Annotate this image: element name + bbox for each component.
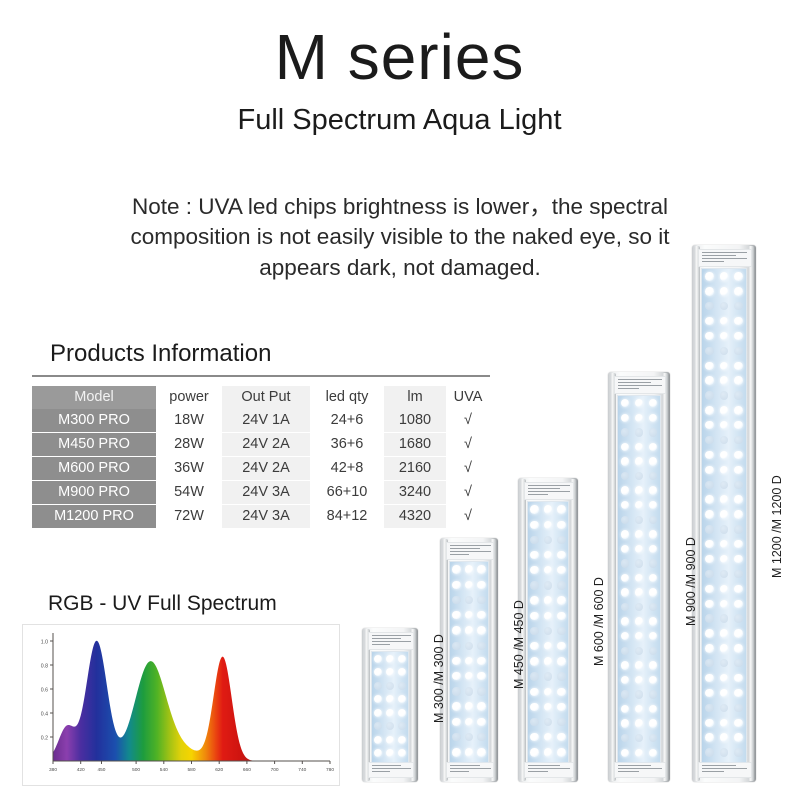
led-chip — [621, 676, 629, 684]
fixture-spec-label-bottom — [446, 762, 494, 778]
led-chip — [465, 581, 473, 589]
led-chip — [705, 466, 713, 474]
led-chip — [734, 466, 742, 474]
led-chip — [705, 689, 713, 697]
led-chip — [398, 655, 406, 663]
led-chip — [621, 719, 629, 727]
uva-led-chip — [530, 718, 538, 726]
led-chip — [557, 657, 565, 665]
led-chip — [544, 657, 552, 665]
led-chip — [734, 362, 742, 370]
led-chip — [621, 574, 629, 582]
led-chip — [720, 600, 728, 608]
led-chip — [544, 733, 552, 741]
fixture-spec-label-bottom — [614, 762, 666, 778]
led-chip — [557, 703, 565, 711]
cell-lm: 1680 — [384, 433, 446, 457]
led-chip — [621, 617, 629, 625]
cell-model: M600 PRO — [32, 457, 156, 481]
led-chip — [452, 581, 460, 589]
uva-led-chip — [649, 472, 657, 480]
cell-uva: √ — [446, 481, 490, 505]
fixture-side-rail — [490, 539, 496, 781]
uva-led-chip — [720, 436, 728, 444]
led-chip — [705, 495, 713, 503]
uva-led-chip — [530, 581, 538, 589]
led-chip — [477, 672, 485, 680]
led-chip — [452, 702, 460, 710]
led-chip — [557, 596, 565, 604]
fixture-model-label: M 450 /M 450 D — [512, 600, 526, 689]
table-row: M300 PRO 18W 24V 1A 24+6 1080 √ — [32, 409, 490, 433]
fixture-side-rail — [610, 373, 616, 781]
led-chip — [734, 406, 742, 414]
led-chip — [734, 287, 742, 295]
led-chip — [398, 668, 406, 676]
led-chip — [720, 644, 728, 652]
table-row: M900 PRO 54W 24V 3A 66+10 3240 √ — [32, 481, 490, 505]
led-chip — [465, 718, 473, 726]
cell-uva: √ — [446, 505, 490, 529]
uva-led-chip — [720, 525, 728, 533]
led-chip — [557, 688, 565, 696]
uva-led-chip — [720, 481, 728, 489]
led-chip — [720, 674, 728, 682]
led-chip — [374, 668, 382, 676]
fixture-model-label: M 600 /M 600 D — [592, 578, 606, 667]
cell-uva: √ — [446, 409, 490, 433]
uva-led-chip — [635, 516, 643, 524]
led-fixture — [362, 628, 418, 782]
led-chip — [734, 719, 742, 727]
cell-output: 24V 3A — [222, 481, 310, 505]
led-chip — [635, 719, 643, 727]
uva-led-chip — [398, 722, 406, 730]
uva-led-chip — [734, 614, 742, 622]
led-chip — [557, 748, 565, 756]
uva-led-chip — [465, 733, 473, 741]
led-chip — [465, 626, 473, 634]
column-header-output: Out Put — [222, 386, 310, 409]
led-chip — [465, 611, 473, 619]
led-chip — [398, 695, 406, 703]
uva-led-chip — [635, 559, 643, 567]
uva-led-chip — [621, 559, 629, 567]
uva-led-chip — [649, 603, 657, 611]
uva-led-chip — [705, 391, 713, 399]
led-panel — [527, 501, 569, 763]
led-chip — [649, 545, 657, 553]
led-chip — [649, 632, 657, 640]
led-chip — [734, 540, 742, 548]
uva-led-chip — [705, 614, 713, 622]
led-chip — [705, 733, 713, 741]
led-chip — [649, 676, 657, 684]
uva-led-chip — [544, 672, 552, 680]
uva-led-chip — [720, 748, 728, 756]
uva-led-chip — [720, 704, 728, 712]
led-chip — [557, 642, 565, 650]
led-chip — [530, 566, 538, 574]
uva-led-chip — [734, 525, 742, 533]
led-chip — [705, 376, 713, 384]
led-chip — [544, 596, 552, 604]
cell-led-qty: 24+6 — [310, 409, 384, 433]
led-chip — [635, 676, 643, 684]
led-chip — [530, 733, 538, 741]
fixture-spec-label-bottom — [368, 762, 415, 778]
uva-led-chip — [635, 690, 643, 698]
uva-led-chip — [557, 581, 565, 589]
led-chip — [705, 272, 713, 280]
table-body: M300 PRO 18W 24V 1A 24+6 1080 √ M450 PRO… — [32, 409, 490, 528]
page-subtitle: Full Spectrum Aqua Light — [0, 104, 799, 137]
cell-uva: √ — [446, 433, 490, 457]
led-chip — [635, 457, 643, 465]
led-chip — [452, 611, 460, 619]
cell-output: 24V 2A — [222, 433, 310, 457]
uva-led-chip — [705, 302, 713, 310]
led-chip — [544, 612, 552, 620]
column-header-uva: UVA — [446, 386, 490, 409]
svg-text:580: 580 — [187, 767, 195, 773]
led-chip — [477, 565, 485, 573]
section-divider — [32, 375, 490, 377]
uva-led-chip — [374, 682, 382, 690]
table-row: M450 PRO 28W 24V 2A 36+6 1680 √ — [32, 433, 490, 457]
uva-led-chip — [530, 536, 538, 544]
cell-model: M450 PRO — [32, 433, 156, 457]
led-chip — [635, 632, 643, 640]
uva-led-chip — [557, 718, 565, 726]
led-chip — [557, 566, 565, 574]
led-chip — [720, 376, 728, 384]
led-chip — [635, 617, 643, 625]
uva-led-chip — [705, 436, 713, 444]
led-chip — [557, 733, 565, 741]
led-chip — [477, 657, 485, 665]
led-chip — [635, 545, 643, 553]
led-chip — [705, 644, 713, 652]
svg-text:1.0: 1.0 — [41, 640, 48, 646]
led-chip — [705, 600, 713, 608]
uva-led-chip — [452, 642, 460, 650]
led-chip — [621, 486, 629, 494]
led-chip — [705, 555, 713, 563]
led-chip — [557, 505, 565, 513]
uva-led-chip — [530, 672, 538, 680]
led-chip — [734, 317, 742, 325]
led-chip — [635, 486, 643, 494]
led-chip — [705, 510, 713, 518]
uva-led-chip — [374, 722, 382, 730]
uva-led-chip — [557, 672, 565, 680]
led-chip — [635, 574, 643, 582]
uva-led-chip — [635, 603, 643, 611]
led-chip — [734, 600, 742, 608]
led-chip — [734, 495, 742, 503]
cell-power: 28W — [156, 433, 222, 457]
led-chip — [398, 709, 406, 717]
uva-led-chip — [557, 627, 565, 635]
led-chip — [705, 317, 713, 325]
led-chip — [530, 657, 538, 665]
led-chip — [734, 629, 742, 637]
led-chip — [398, 736, 406, 744]
led-chip — [720, 466, 728, 474]
svg-text:740: 740 — [298, 767, 306, 773]
fixture-side-rail — [748, 246, 754, 781]
led-chip — [530, 612, 538, 620]
fixture-model-label: M 900 /M 900 D — [684, 537, 698, 626]
led-chip — [398, 749, 406, 757]
uva-led-chip — [635, 734, 643, 742]
led-chip — [386, 695, 394, 703]
uva-led-chip — [544, 627, 552, 635]
led-chip — [705, 406, 713, 414]
cell-led-qty: 36+6 — [310, 433, 384, 457]
led-chip — [635, 414, 643, 422]
fixture-model-label: M 300 /M 300 D — [432, 635, 446, 724]
fixture-side-rail — [410, 629, 416, 781]
led-chip — [720, 540, 728, 548]
led-chip — [705, 585, 713, 593]
led-chip — [386, 749, 394, 757]
fixture-side-rail — [570, 479, 576, 781]
led-chip — [544, 748, 552, 756]
led-chip — [465, 657, 473, 665]
led-chip — [635, 530, 643, 538]
spectrum-chart-title: RGB - UV Full Spectrum — [48, 592, 277, 616]
led-chip — [734, 555, 742, 563]
led-chip — [720, 629, 728, 637]
cell-output: 24V 3A — [222, 505, 310, 529]
uva-led-chip — [720, 614, 728, 622]
cell-led-qty: 66+10 — [310, 481, 384, 505]
fixture-model-label: M 1200 /M 1200 D — [770, 475, 784, 578]
svg-text:420: 420 — [77, 767, 85, 773]
fixture-spec-label-bottom — [698, 762, 751, 778]
led-chip — [621, 530, 629, 538]
led-chip — [649, 574, 657, 582]
uva-led-chip — [705, 748, 713, 756]
led-chip — [649, 719, 657, 727]
uva-led-chip — [734, 481, 742, 489]
cell-power: 36W — [156, 457, 222, 481]
page-title: M series — [0, 24, 799, 91]
uva-led-chip — [477, 596, 485, 604]
led-chip — [544, 688, 552, 696]
led-chip — [649, 617, 657, 625]
led-chip — [734, 689, 742, 697]
uva-led-chip — [530, 627, 538, 635]
uva-led-chip — [734, 748, 742, 756]
led-chip — [705, 629, 713, 637]
cell-lm: 3240 — [384, 481, 446, 505]
cell-model: M1200 PRO — [32, 505, 156, 529]
led-chip — [705, 540, 713, 548]
uva-led-chip — [720, 391, 728, 399]
led-chip — [452, 672, 460, 680]
led-chip — [530, 551, 538, 559]
cell-uva: √ — [446, 457, 490, 481]
table-header-row: Model power Out Put led qty lm UVA — [32, 386, 490, 409]
uva-led-chip — [452, 733, 460, 741]
led-chip — [720, 287, 728, 295]
specifications-table: Model power Out Put led qty lm UVA M300 … — [32, 386, 490, 528]
led-panel — [617, 395, 661, 763]
uva-led-chip — [720, 659, 728, 667]
uva-led-chip — [544, 536, 552, 544]
led-chip — [720, 406, 728, 414]
led-chip — [386, 655, 394, 663]
uva-led-chip — [465, 642, 473, 650]
uva-led-chip — [544, 581, 552, 589]
led-chip — [635, 661, 643, 669]
led-chip — [621, 501, 629, 509]
led-chip — [544, 521, 552, 529]
spectrum-chart: 0.20.40.60.81.03804204505005405806206607… — [22, 624, 340, 786]
uva-led-chip — [621, 603, 629, 611]
led-chip — [734, 674, 742, 682]
led-chip — [544, 551, 552, 559]
uva-led-chip — [705, 481, 713, 489]
led-chip — [374, 655, 382, 663]
led-chip — [374, 736, 382, 744]
led-fixture — [608, 372, 670, 782]
led-chip — [374, 695, 382, 703]
uva-led-chip — [649, 647, 657, 655]
led-chip — [720, 362, 728, 370]
led-chip — [530, 748, 538, 756]
table-row: M1200 PRO 72W 24V 3A 84+12 4320 √ — [32, 505, 490, 529]
led-chip — [530, 688, 538, 696]
led-chip — [649, 705, 657, 713]
led-chip — [734, 451, 742, 459]
led-fixture — [692, 245, 756, 782]
uva-led-chip — [734, 570, 742, 578]
uva-led-chip — [720, 302, 728, 310]
led-chip — [544, 505, 552, 513]
led-chip — [477, 748, 485, 756]
led-panel — [449, 561, 489, 763]
table-row: M600 PRO 36W 24V 2A 42+8 2160 √ — [32, 457, 490, 481]
led-chip — [705, 451, 713, 459]
led-chip — [635, 399, 643, 407]
led-chip — [734, 272, 742, 280]
led-chip — [452, 718, 460, 726]
led-chip — [477, 581, 485, 589]
uva-led-chip — [705, 570, 713, 578]
led-chip — [720, 451, 728, 459]
svg-text:0.6: 0.6 — [41, 688, 48, 694]
fixture-spec-label-top — [698, 249, 751, 267]
uva-led-chip — [720, 570, 728, 578]
led-chip — [374, 749, 382, 757]
uva-led-chip — [734, 302, 742, 310]
uva-led-chip — [477, 642, 485, 650]
led-fixture — [518, 478, 578, 782]
led-chip — [635, 705, 643, 713]
cell-led-qty: 84+12 — [310, 505, 384, 529]
led-chip — [635, 443, 643, 451]
led-chip — [649, 399, 657, 407]
column-header-led-qty: led qty — [310, 386, 384, 409]
led-chip — [621, 661, 629, 669]
uva-led-chip — [465, 596, 473, 604]
uva-led-chip — [635, 647, 643, 655]
led-chip — [465, 702, 473, 710]
fixture-side-rail — [694, 246, 700, 781]
uva-led-chip — [734, 704, 742, 712]
uva-led-chip — [649, 428, 657, 436]
led-chip — [649, 501, 657, 509]
uva-led-chip — [649, 516, 657, 524]
led-chip — [649, 457, 657, 465]
led-chip — [649, 588, 657, 596]
led-chip — [705, 287, 713, 295]
uva-led-chip — [649, 559, 657, 567]
led-chip — [621, 414, 629, 422]
svg-text:540: 540 — [160, 767, 168, 773]
fixture-spec-label-top — [446, 542, 494, 560]
led-chip — [477, 611, 485, 619]
led-chip — [386, 668, 394, 676]
led-chip — [530, 703, 538, 711]
cell-power: 54W — [156, 481, 222, 505]
product-infographic: M series Full Spectrum Aqua Light Note :… — [0, 0, 799, 799]
cell-lm: 2160 — [384, 457, 446, 481]
led-chip — [465, 748, 473, 756]
led-chip — [734, 585, 742, 593]
svg-text:380: 380 — [49, 767, 57, 773]
cell-model: M900 PRO — [32, 481, 156, 505]
led-chip — [530, 596, 538, 604]
led-chip — [649, 530, 657, 538]
led-chip — [734, 332, 742, 340]
led-chip — [530, 642, 538, 650]
cell-lm: 4320 — [384, 505, 446, 529]
uva-led-chip — [477, 733, 485, 741]
led-chip — [621, 705, 629, 713]
led-chip — [649, 749, 657, 757]
led-chip — [621, 545, 629, 553]
led-chip — [465, 565, 473, 573]
cell-output: 24V 2A — [222, 457, 310, 481]
cell-led-qty: 42+8 — [310, 457, 384, 481]
uva-led-chip — [734, 659, 742, 667]
led-chip — [720, 585, 728, 593]
led-chip — [734, 733, 742, 741]
uva-led-chip — [705, 525, 713, 533]
fixture-spec-label-top — [368, 632, 415, 650]
led-chip — [621, 443, 629, 451]
led-chip — [720, 510, 728, 518]
uva-led-chip — [544, 718, 552, 726]
uva-led-chip — [734, 391, 742, 399]
uva-led-chip — [635, 472, 643, 480]
uva-led-chip — [705, 659, 713, 667]
led-chip — [477, 718, 485, 726]
led-chip — [452, 626, 460, 634]
uva-led-chip — [398, 682, 406, 690]
uva-led-chip — [621, 690, 629, 698]
uva-led-chip — [386, 722, 394, 730]
cell-model: M300 PRO — [32, 409, 156, 433]
uva-led-chip — [452, 687, 460, 695]
cell-power: 18W — [156, 409, 222, 433]
svg-text:0.2: 0.2 — [41, 736, 48, 742]
